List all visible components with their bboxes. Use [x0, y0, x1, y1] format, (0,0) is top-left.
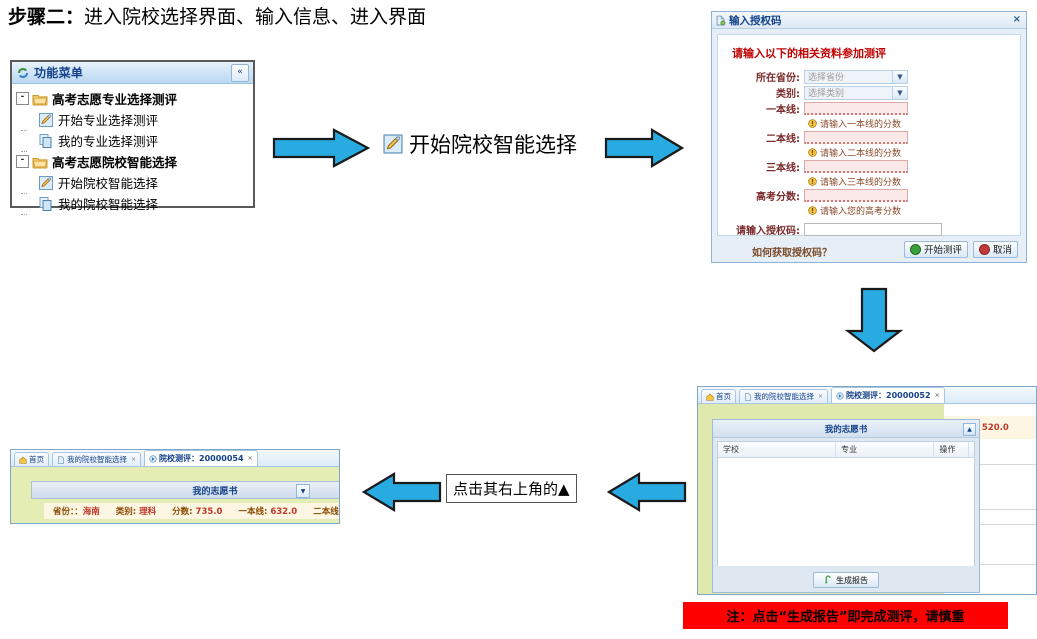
field-label: 二本线: — [718, 130, 804, 145]
score-total-value: 735.0 — [196, 507, 223, 517]
arrow-left-icon — [362, 472, 442, 512]
tab-label: 首页 — [716, 391, 731, 402]
warning-banner-text: 注：点击“生成报告”即完成测评，请慎重 — [726, 606, 964, 625]
score-tier1-label: 一本线: — [238, 507, 267, 517]
warning-icon — [808, 177, 817, 186]
wishbook-panel-header[interactable]: 我的志愿书 ▼ — [31, 481, 340, 499]
category-select-value: 选择类别 — [808, 86, 892, 99]
arrow-icon — [836, 392, 844, 400]
field-hint-text: 请输入一本线的分数 — [820, 117, 901, 130]
warning-icon — [808, 148, 817, 157]
field-label: 类别: — [718, 85, 804, 100]
warning-banner: 注：点击“生成报告”即完成测评，请慎重 — [683, 602, 1008, 629]
page-icon — [744, 393, 752, 401]
field-label: 请输入授权码: — [718, 222, 804, 237]
instruction-note: 点击其右上角的▲ — [446, 474, 577, 503]
tree-group-label: 高考志愿专业选择测评 — [52, 89, 177, 108]
score-province-label: 省份：： — [53, 507, 83, 517]
arrow-right-icon — [272, 128, 370, 168]
arrow-icon — [149, 455, 157, 463]
tree-item-start-school-selection[interactable]: 开始院校智能选择 — [16, 172, 253, 193]
score-province: 省份：：海南 — [53, 505, 100, 517]
function-menu-title: 功能菜单 — [34, 64, 83, 81]
tab-label: 首页 — [29, 454, 44, 465]
copy-icon — [38, 133, 54, 149]
field-row-exam-score: 高考分数: — [718, 188, 1020, 203]
field-row-category: 类别: 选择类别 ▼ — [718, 85, 1020, 100]
function-menu-tree: - 高考志愿专业选择测评 开始专 — [12, 84, 253, 214]
field-hint-exam-score: 请输入您的高考分数 — [808, 204, 1020, 216]
tree-expander-icon[interactable]: - — [16, 92, 29, 105]
generate-report-label: 生成报告 — [836, 575, 868, 586]
window-body: 我的志愿书 ▼ 省份：：海南 类别: 理科 分数: 735.0 一本线: 632… — [11, 467, 339, 523]
start-assessment-label: 开始测评 — [924, 242, 962, 256]
wishbook-footer: 生成报告 — [713, 571, 979, 589]
grid-body — [718, 458, 974, 566]
tabstrip: 首页 我的院校智能选择 × 院校测评：20000054 × — [11, 450, 339, 467]
dialog-body: 请输入以下的相关资料参加测评 所在省份: 选择省份 ▼ 类别: 选择类别 ▼ 一… — [717, 34, 1021, 236]
wishbook-grid: 学校 专业 操作 — [717, 441, 975, 566]
tab-home[interactable]: 首页 — [14, 452, 49, 466]
field-label: 高考分数: — [718, 188, 804, 203]
tree-group-major-assessment[interactable]: - 高考志愿专业选择测评 — [16, 88, 253, 109]
score-category: 类别: 理科 — [116, 505, 156, 517]
chevron-down-icon[interactable]: ▼ — [892, 71, 907, 83]
check-circle-icon — [910, 244, 921, 255]
instruction-note-text: 点击其右上角的▲ — [453, 480, 570, 498]
tree-expander-icon[interactable]: - — [16, 155, 29, 168]
cancel-label: 取消 — [993, 242, 1012, 256]
field-row-auth-code: 请输入授权码: — [718, 222, 1020, 237]
collapse-up-icon[interactable]: ▲ — [963, 423, 976, 436]
tier1-input[interactable] — [804, 102, 908, 115]
wishbook-dialog: 我的志愿书 ▲ 学校 专业 操作 生成报告 — [712, 419, 980, 593]
province-select-value: 选择省份 — [808, 70, 892, 83]
field-hint-tier1: 请输入一本线的分数 — [808, 117, 1020, 129]
assessment-window-left: 首页 我的院校智能选择 × 院校测评：20000054 × 我的志愿书 ▼ 省份… — [10, 449, 340, 524]
warning-icon — [808, 119, 817, 128]
dialog-footer: 开始测评 取消 — [717, 239, 1021, 259]
field-hint-tier3: 请输入三本线的分数 — [808, 175, 1020, 187]
step-text: 进入院校选择界面、输入信息、进入界面 — [84, 6, 426, 28]
arrow-right-icon — [604, 128, 684, 168]
folder-icon — [32, 91, 48, 107]
tree-item-label: 我的院校智能选择 — [58, 194, 158, 213]
center-action-label: 开始院校智能选择 — [409, 129, 577, 159]
field-label: 三本线: — [718, 159, 804, 174]
field-hint-text: 请输入您的高考分数 — [820, 204, 901, 217]
field-row-tier2: 二本线: — [718, 130, 1020, 145]
grid-header-row: 学校 专业 操作 — [718, 442, 974, 458]
tab-home[interactable]: 首页 — [701, 389, 736, 403]
grid-header-school[interactable]: 学校 — [718, 442, 836, 457]
grid-header-major[interactable]: 专业 — [836, 442, 934, 457]
copy-icon — [38, 196, 54, 212]
dialog-instruction: 请输入以下的相关资料参加测评 — [732, 45, 1020, 61]
score-category-label: 类别: — [116, 507, 136, 517]
tree-item-label: 开始专业选择测评 — [58, 110, 158, 129]
edit-icon — [38, 112, 54, 128]
warning-icon — [808, 206, 817, 215]
folder-icon — [32, 154, 48, 170]
auth-code-input[interactable] — [804, 223, 942, 236]
tree-item-my-major-assessment[interactable]: 我的专业选择测评 — [16, 130, 253, 151]
home-icon — [706, 393, 714, 401]
field-label: 一本线: — [718, 101, 804, 116]
score-category-value: 理科 — [139, 507, 156, 517]
grid-header-spacer — [969, 442, 974, 457]
step-prefix: 步骤二： — [8, 6, 84, 28]
tab-label: 院校测评：20000054 — [159, 453, 244, 464]
tree-item-label: 开始院校智能选择 — [58, 173, 158, 192]
tree-group-school-selection[interactable]: - 高考志愿院校智能选择 — [16, 151, 253, 172]
home-icon — [19, 456, 27, 464]
start-school-selection-action[interactable]: 开始院校智能选择 — [382, 129, 577, 159]
grid-header-action[interactable]: 操作 — [934, 442, 969, 457]
score-tier1: 一本线: 632.0 — [238, 505, 297, 517]
field-row-tier3: 三本线: — [718, 159, 1020, 174]
score-total: 分数: 735.0 — [172, 505, 222, 517]
score-tier1-value: 632.0 — [270, 507, 297, 517]
score-tier2-label: 二本线: — [313, 507, 340, 517]
wishbook-header: 我的志愿书 ▲ — [713, 420, 979, 438]
collapse-panel-button[interactable]: « — [231, 64, 249, 82]
province-select[interactable]: 选择省份 ▼ — [804, 70, 908, 84]
window-body: 线: 520.0 我的志愿书 ▲ 学校 专业 操作 — [698, 404, 1036, 594]
generate-report-button[interactable]: 生成报告 — [813, 572, 879, 588]
page-icon — [57, 456, 65, 464]
tab-my-school-selection[interactable]: 我的院校智能选择 × — [739, 389, 828, 403]
field-hint-text: 请输入二本线的分数 — [820, 146, 901, 159]
page-title: 步骤二：进入院校选择界面、输入信息、进入界面 — [8, 4, 426, 30]
score-tier2: 二本线: 573.0 — [313, 505, 340, 517]
tab-label: 我的院校智能选择 — [67, 454, 127, 465]
score-summary-bar: 省份：：海南 类别: 理科 分数: 735.0 一本线: 632.0 二本线: … — [44, 503, 339, 519]
close-icon[interactable]: × — [248, 455, 253, 462]
start-assessment-button[interactable]: 开始测评 — [904, 241, 968, 258]
field-label: 所在省份: — [718, 69, 804, 84]
auth-code-dialog: 输入授权码 × 请输入以下的相关资料参加测评 所在省份: 选择省份 ▼ 类别: … — [711, 11, 1027, 263]
assessment-window-right: 首页 我的院校智能选择 × 院校测评：20000052 × 线: 520.0 — [697, 386, 1037, 595]
wishbook-title: 我的志愿书 — [192, 484, 237, 497]
function-menu-panel: 功能菜单 « - 高考志愿专业选择测评 — [10, 60, 255, 208]
function-menu-titlebar: 功能菜单 « — [12, 62, 253, 84]
tree-item-my-school-selection[interactable]: 我的院校智能选择 — [16, 193, 253, 214]
edit-icon — [38, 175, 54, 191]
field-row-tier1: 一本线: — [718, 101, 1020, 116]
tabstrip: 首页 我的院校智能选择 × 院校测评：20000052 × — [698, 387, 1036, 404]
tab-label: 我的院校智能选择 — [754, 391, 814, 402]
chevron-down-icon[interactable]: ▼ — [892, 87, 907, 99]
score-total-label: 分数: — [172, 507, 192, 517]
close-icon[interactable]: × — [818, 393, 823, 400]
tree-group-label: 高考志愿院校智能选择 — [52, 152, 177, 171]
category-select[interactable]: 选择类别 ▼ — [804, 86, 908, 100]
exam-score-input[interactable] — [804, 189, 908, 202]
field-hint-text: 请输入三本线的分数 — [820, 175, 901, 188]
field-hint-tier2: 请输入二本线的分数 — [808, 146, 1020, 158]
arrow-left-icon — [607, 472, 687, 512]
tab-assessment-20000052[interactable]: 院校测评：20000052 × — [831, 387, 945, 403]
arrow-down-icon — [845, 287, 903, 353]
cancel-button[interactable]: 取消 — [973, 241, 1018, 258]
tab-label: 院校测评：20000052 — [846, 390, 931, 401]
tier2-input[interactable] — [804, 131, 908, 144]
wishbook-title: 我的志愿书 — [825, 423, 868, 435]
dialog-titlebar: 输入授权码 × — [712, 12, 1026, 29]
tab-my-school-selection[interactable]: 我的院校智能选择 × — [52, 452, 141, 466]
tree-item-start-major-assessment[interactable]: 开始专业选择测评 — [16, 109, 253, 130]
tree-item-label: 我的专业选择测评 — [58, 131, 158, 150]
tree-group: - 高考志愿院校智能选择 开始院 — [16, 151, 253, 214]
dialog-title: 输入授权码 — [729, 13, 782, 28]
edit-icon — [382, 133, 404, 155]
close-icon[interactable]: × — [935, 392, 940, 399]
page-icon — [715, 15, 726, 26]
tree-group: - 高考志愿专业选择测评 开始专 — [16, 88, 253, 151]
refresh-icon — [16, 66, 30, 80]
expand-down-icon[interactable]: ▼ — [296, 484, 310, 498]
close-icon[interactable]: × — [1013, 15, 1023, 25]
tier3-input[interactable] — [804, 160, 908, 173]
tab-assessment-20000054[interactable]: 院校测评：20000054 × — [144, 450, 258, 466]
minus-circle-icon — [979, 244, 990, 255]
field-row-province: 所在省份: 选择省份 ▼ — [718, 69, 1020, 84]
score-province-value: 海南 — [83, 507, 100, 517]
score-fragment-value: 520.0 — [982, 423, 1009, 433]
report-icon — [824, 575, 833, 586]
close-icon[interactable]: × — [131, 456, 136, 463]
